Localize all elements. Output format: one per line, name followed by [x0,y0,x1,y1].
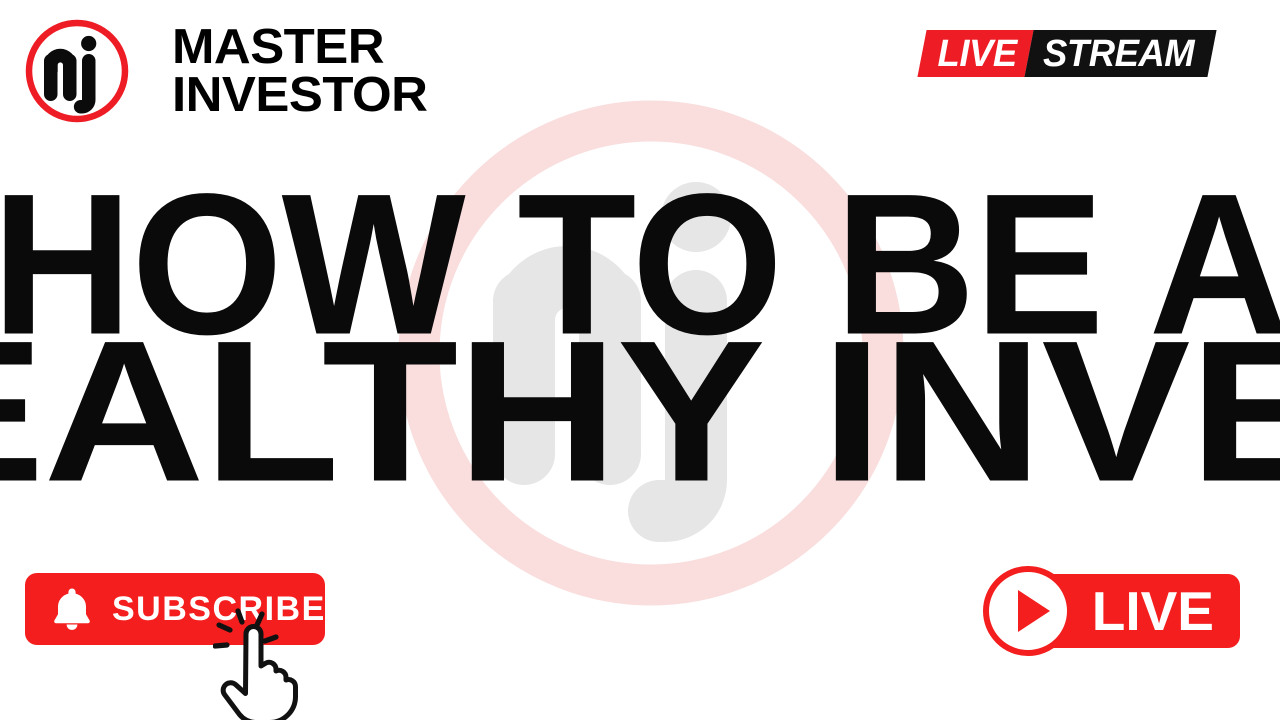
brand-logo: MASTER INVESTOR [22,16,418,126]
headline-line-2: WEALTHY INVESTOR? [0,325,1280,498]
thumbnail-canvas: MASTER INVESTOR LIVE STREAM HOW TO BE A … [0,0,1280,720]
brand-name-line-2: INVESTOR [172,71,427,119]
headline: HOW TO BE A WEALTHY INVESTOR? [0,178,1280,454]
subscribe-cta[interactable]: SUBSCRIBE [25,573,325,645]
livestream-badge-stream-part: STREAM [1025,30,1217,77]
livestream-stream-label: STREAM [1044,35,1195,73]
brand-wordmark: MASTER INVESTOR [172,23,418,119]
subscribe-button[interactable]: SUBSCRIBE [25,573,325,645]
live-badge: LIVE [980,563,1240,659]
brand-name-line-1: MASTER [172,23,427,71]
play-circle-icon [980,563,1076,659]
livestream-badge: LIVE STREAM [918,30,1217,77]
subscribe-label: SUBSCRIBE [112,592,326,626]
livestream-badge-live-part: LIVE [918,30,1035,77]
bell-icon [51,587,93,631]
livestream-live-label: LIVE [938,35,1017,73]
mi-monogram-icon [22,16,132,126]
live-label: LIVE [1092,584,1214,639]
